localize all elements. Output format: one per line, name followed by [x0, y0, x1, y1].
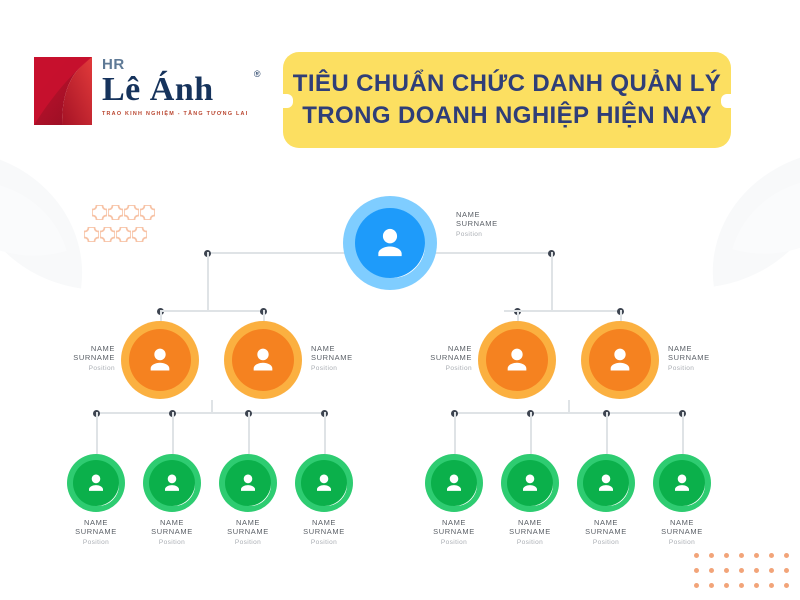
node-position: Position — [208, 539, 288, 546]
org-label-manager-4: NAMESURNAMEPosition — [668, 344, 748, 372]
org-node-staff-8[interactable] — [653, 454, 711, 512]
org-label-staff-4: NAMESURNAMEPosition — [284, 518, 364, 546]
org-label-staff-5: NAMESURNAMEPosition — [414, 518, 494, 546]
org-label-manager-2: NAMESURNAMEPosition — [311, 344, 391, 372]
avatar-circle[interactable] — [501, 454, 559, 512]
node-name: NAMESURNAME — [414, 518, 494, 537]
org-label-manager-1: NAMESURNAMEPosition — [35, 344, 115, 372]
avatar-core — [149, 460, 195, 506]
avatar-core — [232, 329, 294, 391]
avatar-circle[interactable] — [425, 454, 483, 512]
org-node-staff-1[interactable] — [67, 454, 125, 512]
org-label-staff-6: NAMESURNAMEPosition — [490, 518, 570, 546]
node-name: NAMESURNAME — [311, 344, 391, 363]
title-banner: TIÊU CHUẨN CHỨC DANH QUẢN LÝ TRONG DOANH… — [283, 52, 731, 148]
person-avatar-icon — [236, 471, 260, 495]
org-node-staff-2[interactable] — [143, 454, 201, 512]
avatar-circle[interactable] — [478, 321, 556, 399]
node-name: NAMESURNAME — [456, 210, 498, 229]
logo-hr-text: HR — [102, 57, 248, 72]
connector-line-vertical — [248, 412, 250, 454]
connector-line-vertical — [172, 412, 174, 454]
node-name: NAMESURNAME — [642, 518, 722, 537]
avatar-core — [225, 460, 271, 506]
avatar-core — [431, 460, 477, 506]
connector-line-vertical — [324, 412, 326, 454]
person-avatar-icon — [144, 344, 176, 376]
node-name: NAMESURNAME — [668, 344, 748, 363]
logo-slogan: TRAO KINH NGHIỆM - TĂNG TƯƠNG LAI — [102, 111, 248, 117]
avatar-core — [486, 329, 548, 391]
avatar-core — [355, 208, 425, 278]
connector-line-vertical — [606, 412, 608, 454]
avatar-circle[interactable] — [343, 196, 437, 290]
org-label-ceo: NAMESURNAMEPosition — [456, 210, 498, 238]
connector-line-vertical — [96, 412, 98, 454]
avatar-core — [659, 460, 705, 506]
org-node-manager-4[interactable] — [581, 321, 659, 399]
node-name: NAMESURNAME — [35, 344, 115, 363]
registered-trademark-icon: ® — [254, 69, 261, 79]
person-avatar-icon — [370, 223, 410, 263]
org-node-manager-3[interactable] — [478, 321, 556, 399]
node-name: NAMESURNAME — [284, 518, 364, 537]
poster-canvas: HR Lê Ánh ® TRAO KINH NGHIỆM - TĂNG TƯƠN… — [0, 0, 800, 600]
person-avatar-icon — [160, 471, 184, 495]
avatar-circle[interactable] — [577, 454, 635, 512]
node-position: Position — [414, 539, 494, 546]
connector-line-vertical — [682, 412, 684, 454]
avatar-core — [583, 460, 629, 506]
poster-header: HR Lê Ánh ® TRAO KINH NGHIỆM - TĂNG TƯƠN… — [0, 0, 800, 160]
node-position: Position — [490, 539, 570, 546]
avatar-circle[interactable] — [67, 454, 125, 512]
org-label-manager-3: NAMESURNAMEPosition — [392, 344, 472, 372]
connector-line-horizontal — [160, 310, 208, 312]
node-position: Position — [56, 539, 136, 546]
org-node-staff-5[interactable] — [425, 454, 483, 512]
avatar-circle[interactable] — [581, 321, 659, 399]
org-node-manager-1[interactable] — [121, 321, 199, 399]
org-label-staff-3: NAMESURNAMEPosition — [208, 518, 288, 546]
node-name: NAMESURNAME — [566, 518, 646, 537]
person-avatar-icon — [312, 471, 336, 495]
node-name: NAMESURNAME — [392, 344, 472, 363]
org-node-staff-4[interactable] — [295, 454, 353, 512]
node-name: NAMESURNAME — [132, 518, 212, 537]
node-name: NAMESURNAME — [56, 518, 136, 537]
avatar-core — [589, 329, 651, 391]
connector-line-vertical — [551, 252, 553, 310]
node-name: NAMESURNAME — [208, 518, 288, 537]
org-node-staff-3[interactable] — [219, 454, 277, 512]
connector-line-vertical — [207, 252, 209, 310]
org-label-staff-1: NAMESURNAMEPosition — [56, 518, 136, 546]
avatar-core — [129, 329, 191, 391]
page-title-line-2: TRONG DOANH NGHIỆP HIỆN NAY — [302, 103, 712, 129]
org-node-staff-6[interactable] — [501, 454, 559, 512]
node-position: Position — [132, 539, 212, 546]
node-position: Position — [284, 539, 364, 546]
person-avatar-icon — [84, 471, 108, 495]
connector-line-vertical — [530, 412, 532, 454]
person-avatar-icon — [442, 471, 466, 495]
node-name: NAMESURNAME — [490, 518, 570, 537]
avatar-circle[interactable] — [121, 321, 199, 399]
logo-brand-name: Lê Ánh — [102, 73, 248, 107]
le-anh-logo-mark-icon — [32, 55, 94, 127]
avatar-circle[interactable] — [295, 454, 353, 512]
person-avatar-icon — [501, 344, 533, 376]
org-node-ceo[interactable] — [343, 196, 437, 290]
person-avatar-icon — [518, 471, 542, 495]
org-label-staff-8: NAMESURNAMEPosition — [642, 518, 722, 546]
person-avatar-icon — [604, 344, 636, 376]
node-position: Position — [642, 539, 722, 546]
person-avatar-icon — [670, 471, 694, 495]
avatar-circle[interactable] — [219, 454, 277, 512]
org-label-staff-7: NAMESURNAMEPosition — [566, 518, 646, 546]
org-label-staff-2: NAMESURNAMEPosition — [132, 518, 212, 546]
org-node-staff-7[interactable] — [577, 454, 635, 512]
brand-logo: HR Lê Ánh ® TRAO KINH NGHIỆM - TĂNG TƯƠN… — [32, 55, 248, 127]
node-position: Position — [566, 539, 646, 546]
avatar-circle[interactable] — [143, 454, 201, 512]
avatar-circle[interactable] — [224, 321, 302, 399]
person-avatar-icon — [594, 471, 618, 495]
node-position: Position — [456, 231, 498, 238]
org-chart: NAMESURNAMEPositionNAMESURNAMEPositionNA… — [0, 160, 800, 600]
avatar-core — [301, 460, 347, 506]
avatar-circle[interactable] — [653, 454, 711, 512]
connector-line-vertical — [568, 400, 570, 413]
connector-line-horizontal — [96, 412, 324, 414]
avatar-core — [507, 460, 553, 506]
node-position: Position — [668, 365, 748, 372]
org-node-manager-2[interactable] — [224, 321, 302, 399]
avatar-core — [73, 460, 119, 506]
person-avatar-icon — [247, 344, 279, 376]
node-position: Position — [35, 365, 115, 372]
connector-line-horizontal — [504, 310, 552, 312]
connector-line-vertical — [454, 412, 456, 454]
node-position: Position — [311, 365, 391, 372]
node-position: Position — [392, 365, 472, 372]
connector-line-vertical — [211, 400, 213, 413]
page-title-line-1: TIÊU CHUẨN CHỨC DANH QUẢN LÝ — [293, 71, 721, 97]
